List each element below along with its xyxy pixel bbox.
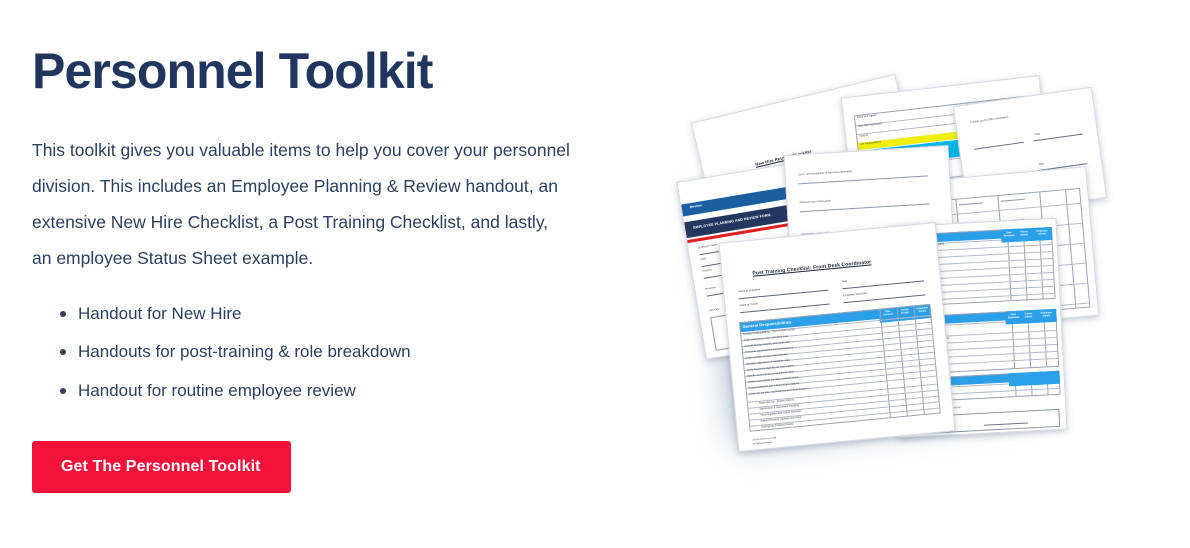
get-personnel-toolkit-button[interactable]: Get The Personnel Toolkit	[32, 441, 291, 493]
list-item-label: Handout for routine employee review	[78, 381, 356, 400]
list-item: Handouts for post-training & role breakd…	[32, 341, 632, 364]
bullet-icon	[60, 311, 66, 317]
document-fan-illustration: New Hire Routing Checklist Name of Emplo…	[660, 62, 1090, 432]
hero-section: Personnel Toolkit This toolkit gives you…	[0, 0, 1190, 548]
list-item: Handout for routine employee review	[32, 380, 632, 403]
bullet-icon	[60, 349, 66, 355]
list-item-label: Handouts for post-training & role breakd…	[78, 342, 411, 361]
hero-description: This toolkit gives you valuable items to…	[32, 133, 572, 277]
page-title: Personnel Toolkit	[32, 44, 632, 99]
document-post-training-checklist-front-desk: Post Training Checklist: Front Desk Coor…	[718, 222, 955, 452]
list-item-label: Handout for New Hire	[78, 304, 241, 323]
hero-content-column: Personnel Toolkit This toolkit gives you…	[32, 44, 632, 493]
bullet-icon	[60, 388, 66, 394]
list-item: Handout for New Hire	[32, 303, 632, 326]
feature-list: Handout for New Hire Handouts for post-t…	[32, 303, 632, 404]
document-title: Post Training Checklist: Front Desk Coor…	[752, 259, 871, 276]
